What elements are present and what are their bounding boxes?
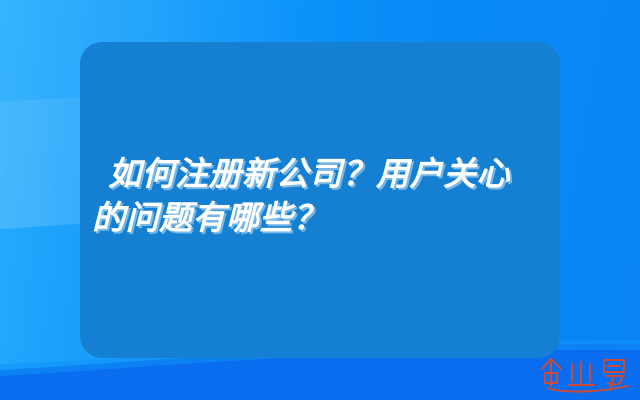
headline-text: 如何注册新公司？用户关心的问题有哪些？ <box>92 152 522 240</box>
banner-canvas: 如何注册新公司？用户关心的问题有哪些？ <box>0 0 640 400</box>
watermark-subtext: qiyeyi.com <box>572 389 594 394</box>
